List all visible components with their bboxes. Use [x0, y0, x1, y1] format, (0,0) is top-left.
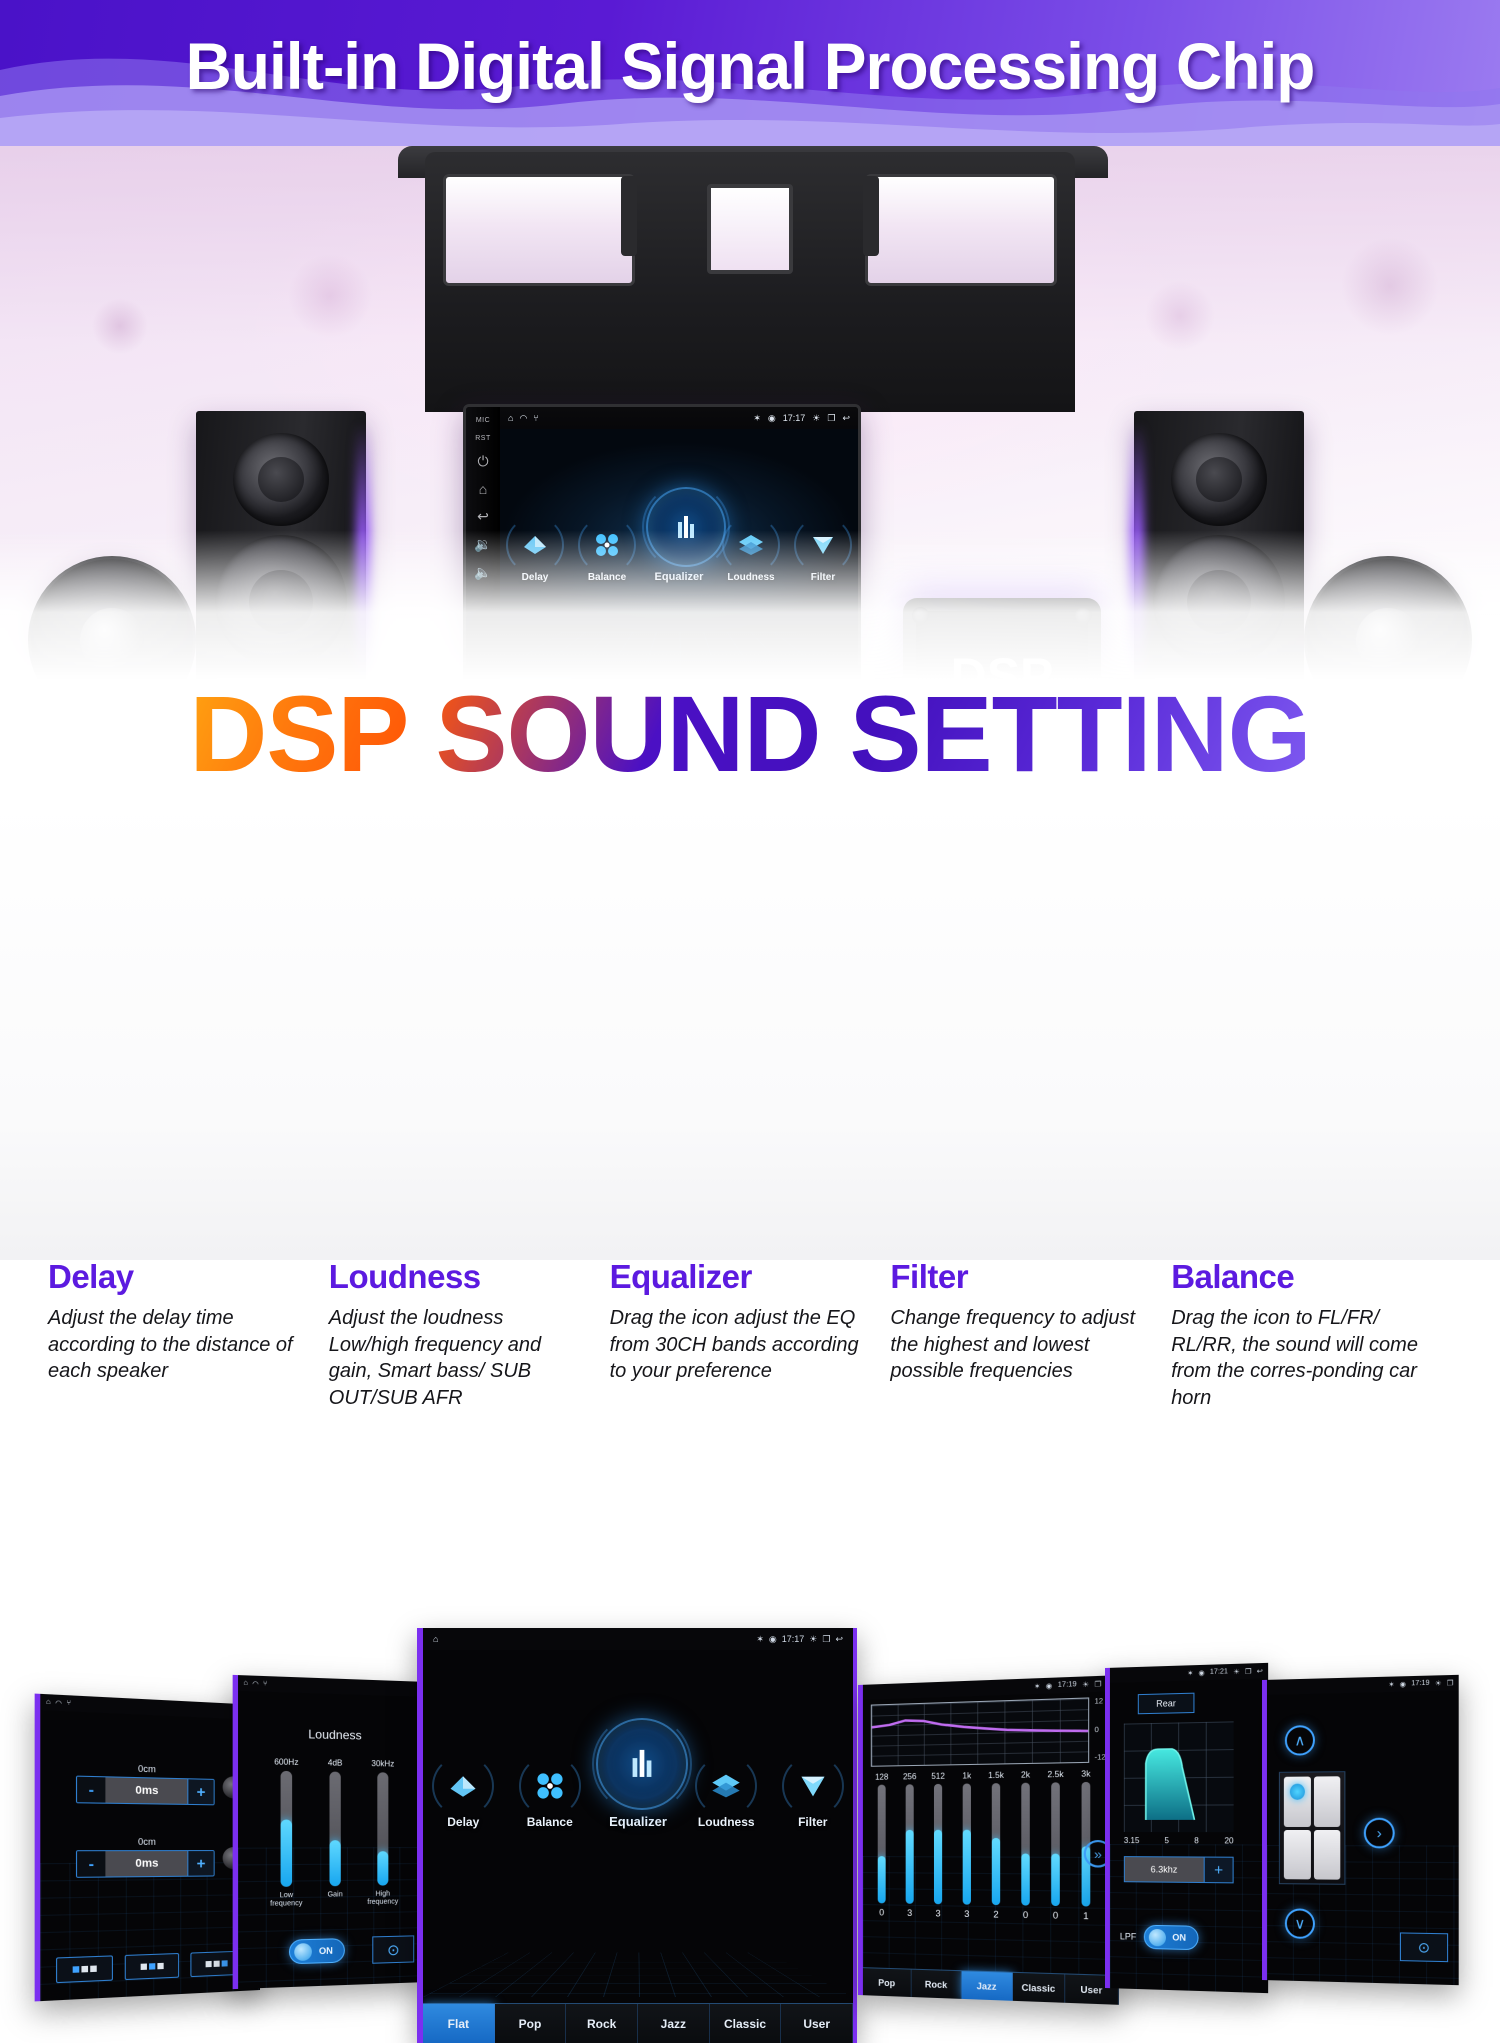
eq-band[interactable]: 256 3 [899, 1772, 921, 1918]
toggle-label: ON [312, 1945, 340, 1956]
filter-channel-tab-rear[interactable]: Rear [1138, 1693, 1195, 1715]
caption-balance: Balance Drag the icon to FL/FR/ RL/RR, t… [1171, 1258, 1452, 1432]
loudness-toggle[interactable]: ON [289, 1938, 345, 1964]
air-vent-left [443, 174, 635, 286]
speaker-preset-1[interactable] [56, 1955, 113, 1983]
equalizer-icon [596, 1718, 688, 1810]
preset-tab-bar-main: Flat Pop Rock Jazz Classic User [423, 2003, 853, 2043]
caption-heading: Equalizer [610, 1258, 867, 1296]
eq-band-value: 0 [1014, 1910, 1037, 1921]
caption-body: Change frequency to adjust the highest a… [890, 1305, 1147, 1385]
bluetooth-icon: ✶ [1034, 1682, 1040, 1691]
back-icon[interactable]: ↩ [477, 508, 489, 525]
slider-track[interactable] [377, 1772, 388, 1885]
caption-body: Drag the icon to FL/FR/ RL/RR, the sound… [1171, 1305, 1428, 1411]
slider-track[interactable] [934, 1784, 942, 1904]
menu-label-filter: Filter [773, 1815, 854, 1829]
filter-plus-button[interactable]: + [1204, 1858, 1233, 1883]
preset-tab-user[interactable]: User [781, 2004, 853, 2043]
slider-track[interactable] [992, 1783, 1000, 1905]
caption-body: Drag the icon adjust the EQ from 30CH ba… [610, 1305, 867, 1385]
slider-track[interactable] [281, 1771, 293, 1887]
back-icon[interactable]: ↩ [835, 1634, 843, 1645]
menu-label-equalizer: Equalizer [596, 1814, 680, 1829]
eq-band-value: 3 [899, 1908, 921, 1919]
clock-label: 17:17 [783, 413, 806, 423]
filter-scale-3: 8 [1194, 1836, 1199, 1845]
preset-tab-pop[interactable]: Pop [863, 1968, 912, 1997]
eq-band[interactable]: 1k 3 [955, 1771, 978, 1919]
menu-label-delay: Delay [423, 1815, 504, 1829]
equalizer-response-graph: 12 0 -12 [871, 1697, 1089, 1766]
delay-stepper-2[interactable]: - 0ms + [76, 1850, 215, 1878]
eq-band[interactable]: 1.5k 2 [984, 1771, 1007, 1920]
brightness-icon[interactable]: ☀ [809, 1634, 817, 1645]
eq-band-frequency: 256 [899, 1772, 921, 1781]
delay-value-1: 0ms [105, 1777, 187, 1804]
vent-slot-left [621, 176, 637, 256]
filter-lpf-row: LPF ON [1120, 1924, 1198, 1950]
high-frequency-value: 30kHz [362, 1759, 404, 1769]
eq-band[interactable]: 2k 0 [1014, 1770, 1037, 1920]
screen-balance[interactable]: ✶ ◉ 17:19 ☀ ❐ ∧ › ∨ ⊙ [1262, 1675, 1459, 1985]
settings-gear-icon[interactable]: ⊙ [1400, 1932, 1448, 1962]
status-bar-delay: ⌂ ◠ ⑂ [40, 1694, 260, 1720]
caption-loudness: Loudness Adjust the loudness Low/high fr… [329, 1258, 610, 1432]
preset-tab-classic[interactable]: Classic [710, 2004, 782, 2043]
slider-track[interactable] [963, 1783, 971, 1904]
home-icon[interactable]: ⌂ [433, 1634, 438, 1644]
delay-minus-button-2[interactable]: - [77, 1851, 105, 1877]
filter-response-graph [1124, 1721, 1234, 1832]
bluetooth-icon: ✶ [753, 413, 761, 424]
car-seat-diagram[interactable] [1279, 1771, 1346, 1885]
high-frequency-label: High frequency [362, 1890, 404, 1907]
eq-band-frequency: 1.5k [984, 1771, 1007, 1781]
loudness-slider-low-frequency[interactable]: 600Hz Low frequency [264, 1757, 308, 1909]
slider-track[interactable] [878, 1785, 886, 1904]
screenshot-strip: ⌂ ◠ ⑂ 0cm - 0ms + 0cm - 0ms + [0, 800, 1500, 1260]
recent-apps-icon[interactable]: ❐ [822, 1634, 830, 1645]
toggle-knob [294, 1943, 312, 1961]
caption-equalizer: Equalizer Drag the icon adjust the EQ fr… [610, 1258, 891, 1432]
status-bar-right: ✶ ◉ 17:19 ☀ ❐ ↩ [1034, 1679, 1113, 1690]
status-bar: ⌂ ◠ ⑂ ✶ ◉ 17:17 ☀ ❐ ↩ [500, 407, 858, 429]
dsp-menu-main: Delay Balance Equalizer Loudness [423, 1718, 853, 1829]
banner-title: Built-in Digital Signal Processing Chip [23, 28, 1478, 104]
loudness-title: Loudness [238, 1725, 428, 1744]
location-icon: ◉ [1198, 1668, 1204, 1676]
car-dashboard [425, 152, 1075, 412]
caption-heading: Balance [1171, 1258, 1428, 1296]
menu-item-delay[interactable]: Delay [423, 1761, 504, 1829]
eq-band-value: 3 [955, 1909, 978, 1920]
delay-plus-button-1[interactable]: + [187, 1779, 213, 1804]
location-icon: ◉ [1400, 1680, 1406, 1688]
seat-rear-right[interactable] [1313, 1829, 1340, 1879]
caption-delay: Delay Adjust the delay time according to… [48, 1258, 329, 1432]
eq-band[interactable]: 2.5k 0 [1044, 1770, 1068, 1921]
eq-band-value: 0 [1044, 1910, 1068, 1921]
screen-equalizer[interactable]: ✶ ◉ 17:19 ☀ ❐ ↩ 12 0 -12 128 0 [858, 1675, 1119, 2005]
hero-section: MIC RST ⏻ ⌂ ↩ 🔉 🔈 ⌂ ◠ ⑂ ✶ ◉ 17:17 ☀ ❐ ↩ [0, 146, 1500, 680]
status-bar-equalizer: ✶ ◉ 17:19 ☀ ❐ ↩ [863, 1675, 1119, 1700]
tweeter-left [233, 433, 328, 526]
mic-label: MIC [476, 417, 490, 424]
filter-scale-4: 20 [1224, 1836, 1233, 1845]
status-bar-loudness: ⌂ ◠ ⑂ [238, 1675, 428, 1697]
page-banner: Built-in Digital Signal Processing Chip [0, 0, 1500, 146]
loudness-slider-gain[interactable]: 4dB Gain [313, 1758, 356, 1908]
settings-gear-icon[interactable]: ⊙ [372, 1935, 414, 1963]
clock-label: 17:19 [1411, 1680, 1429, 1688]
slider-track[interactable] [1051, 1782, 1060, 1906]
balance-down-arrow-icon[interactable]: ∨ [1285, 1908, 1315, 1939]
eq-band[interactable]: 512 3 [927, 1772, 949, 1919]
screen-dsp-main[interactable]: ⌂ ✶ ◉ 17:17 ☀ ❐ ↩ Delay Bala [417, 1628, 857, 2043]
status-bar-balance: ✶ ◉ 17:19 ☀ ❐ [1267, 1675, 1459, 1695]
preset-tab-rock[interactable]: Rock [566, 2004, 638, 2043]
bluetooth-icon: ✶ [756, 1634, 764, 1645]
usb-icon: ⑂ [263, 1680, 267, 1687]
home-icon[interactable]: ⌂ [243, 1679, 248, 1686]
loudness-icon [701, 1761, 751, 1811]
seat-front-left[interactable] [1284, 1777, 1311, 1827]
status-bar-right: ✶ ◉ 17:17 ☀ ❐ ↩ [756, 1634, 843, 1645]
eq-band-frequency: 1k [955, 1771, 978, 1781]
preset-tab-flat[interactable]: Flat [423, 2004, 495, 2043]
delay-row-1: 0cm - 0ms + [76, 1762, 215, 1806]
clock-label: 17:17 [782, 1634, 805, 1644]
wifi-icon: ◠ [252, 1679, 259, 1688]
low-frequency-label: Low frequency [264, 1892, 308, 1909]
delay-stepper-1[interactable]: - 0ms + [76, 1776, 215, 1806]
brightness-icon[interactable]: ☀ [812, 413, 820, 424]
gain-value: 4dB [313, 1758, 356, 1768]
delay-distance-1: 0cm [76, 1762, 215, 1776]
power-icon[interactable]: ⏻ [477, 453, 488, 470]
menu-label-balance: Balance [510, 1815, 591, 1829]
slider-track[interactable] [906, 1784, 914, 1904]
recent-apps-icon[interactable]: ❐ [1095, 1680, 1102, 1689]
vent-slot-right [863, 176, 879, 256]
caption-body: Adjust the loudness Low/high frequency a… [329, 1305, 586, 1411]
air-vent-right [865, 174, 1057, 286]
location-icon: ◉ [768, 413, 776, 424]
screen-delay[interactable]: ⌂ ◠ ⑂ 0cm - 0ms + 0cm - 0ms + [35, 1694, 260, 2002]
filter-icon [788, 1761, 838, 1811]
eq-band-frequency: 3k [1074, 1769, 1098, 1779]
eq-band-frequency: 2k [1014, 1770, 1037, 1780]
back-icon[interactable]: ↩ [842, 413, 850, 424]
rst-label: RST [475, 435, 491, 442]
wifi-icon: ◠ [519, 413, 527, 424]
menu-item-equalizer[interactable]: Equalizer [596, 1718, 680, 1829]
brightness-icon[interactable]: ☀ [1233, 1667, 1240, 1675]
caption-filter: Filter Change frequency to adjust the hi… [890, 1258, 1171, 1432]
delay-distance-2: 0cm [76, 1836, 215, 1847]
toggle-label: ON [1165, 1932, 1192, 1943]
balance-right-arrow-icon[interactable]: › [1364, 1818, 1395, 1849]
screen-loudness[interactable]: ⌂ ◠ ⑂ Loudness 600Hz Low frequency 4dB G… [233, 1675, 428, 1989]
status-bar-main: ⌂ ✶ ◉ 17:17 ☀ ❐ ↩ [423, 1628, 853, 1650]
recent-apps-icon[interactable]: ❐ [827, 413, 835, 424]
preset-tab-jazz[interactable]: Jazz [638, 2004, 710, 2043]
balance-icon [525, 1761, 575, 1811]
preset-tab-rock[interactable]: Rock [912, 1970, 962, 1999]
eq-band-frequency: 128 [871, 1772, 893, 1781]
loudness-sliders: 600Hz Low frequency 4dB Gain 30kHz High … [238, 1757, 428, 1910]
filter-curve [1124, 1721, 1234, 1832]
caption-body: Adjust the delay time according to the d… [48, 1305, 305, 1385]
bluetooth-icon: ✶ [1388, 1680, 1394, 1688]
low-frequency-value: 600Hz [264, 1757, 308, 1767]
menu-item-balance[interactable]: Balance [510, 1761, 591, 1829]
caption-heading: Delay [48, 1258, 305, 1296]
clock-label: 17:19 [1058, 1681, 1077, 1689]
status-bar-right: ✶ ◉ 17:19 ☀ ❐ [1388, 1679, 1453, 1689]
eq-band-value: 3 [927, 1908, 949, 1919]
floor-reflection [0, 530, 1500, 680]
delay-row-2: 0cm - 0ms + [76, 1836, 215, 1878]
eq-band-value: 1 [1074, 1911, 1098, 1922]
usb-icon: ⑂ [533, 413, 538, 423]
speaker-preset-2[interactable] [125, 1953, 179, 1980]
eq-curve-line [872, 1699, 1088, 1768]
delay-plus-button-2[interactable]: + [187, 1851, 213, 1876]
clock-label: 17:21 [1210, 1668, 1228, 1676]
preset-tab-pop[interactable]: Pop [495, 2004, 567, 2043]
wifi-icon: ◠ [55, 1698, 62, 1707]
preset-tab-classic[interactable]: Classic [1013, 1973, 1065, 2003]
usb-icon: ⑂ [66, 1699, 71, 1707]
feature-captions: Delay Adjust the delay time according to… [0, 1258, 1500, 1432]
home-icon[interactable]: ⌂ [508, 413, 513, 423]
status-bar-right: ✶ ◉ 17:17 ☀ ❐ ↩ [753, 413, 850, 424]
lpf-label: LPF [1120, 1931, 1136, 1941]
filter-scale-2: 5 [1164, 1836, 1169, 1845]
lpf-toggle[interactable]: ON [1143, 1925, 1198, 1950]
home-icon[interactable]: ⌂ [46, 1698, 51, 1706]
delay-value-2: 0ms [105, 1851, 187, 1876]
slider-track[interactable] [329, 1772, 340, 1887]
gain-label: Gain [313, 1891, 356, 1900]
recent-apps-icon[interactable]: ❐ [1447, 1679, 1454, 1687]
menu-item-loudness[interactable]: Loudness [686, 1761, 767, 1829]
eq-band-frequency: 2.5k [1044, 1770, 1068, 1780]
home-icon[interactable]: ⌂ [479, 481, 487, 497]
loudness-slider-high-frequency[interactable]: 30kHz High frequency [362, 1759, 404, 1907]
delay-icon [438, 1761, 488, 1811]
toggle-knob [1148, 1928, 1165, 1946]
seat-rear-left[interactable] [1284, 1829, 1311, 1879]
tweeter-right [1171, 433, 1266, 526]
eq-band-value: 2 [984, 1909, 1007, 1920]
back-icon[interactable]: ↩ [1257, 1667, 1263, 1675]
brightness-icon[interactable]: ☀ [1082, 1680, 1089, 1689]
filter-frequency-scale: 3.15 5 8 20 [1124, 1836, 1234, 1845]
air-vent-center [707, 184, 793, 274]
location-icon: ◉ [1046, 1681, 1053, 1690]
menu-item-filter[interactable]: Filter [773, 1761, 854, 1829]
caption-heading: Loudness [329, 1258, 586, 1296]
filter-frequency-stepper[interactable]: 6.3khz + [1124, 1856, 1234, 1883]
bluetooth-icon: ✶ [1187, 1669, 1193, 1677]
equalizer-band-sliders: 128 0 256 3 512 3 1k 3 1.5k [871, 1769, 1098, 1921]
balance-up-arrow-icon[interactable]: ∧ [1285, 1725, 1315, 1756]
filter-frequency-value: 6.3khz [1125, 1857, 1204, 1882]
location-icon: ◉ [769, 1634, 777, 1645]
eq-band-frequency: 512 [927, 1772, 949, 1782]
slider-track[interactable] [1021, 1783, 1030, 1906]
section-title-dsp-sound-setting: DSP SOUND SETTING [0, 668, 1500, 800]
brightness-icon[interactable]: ☀ [1435, 1679, 1442, 1687]
eq-band[interactable]: 128 0 [871, 1772, 893, 1917]
perspective-grid-decoration [423, 1952, 853, 1997]
seat-front-right[interactable] [1313, 1776, 1340, 1826]
status-bar-right: ✶ ◉ 17:21 ☀ ❐ ↩ [1187, 1667, 1263, 1677]
caption-heading: Filter [890, 1258, 1147, 1296]
preset-tab-jazz[interactable]: Jazz [962, 1971, 1013, 2001]
eq-band-value: 0 [871, 1907, 893, 1917]
delay-minus-button-1[interactable]: - [77, 1777, 105, 1803]
filter-scale-1: 3.15 [1124, 1836, 1140, 1845]
recent-apps-icon[interactable]: ❐ [1245, 1667, 1252, 1675]
menu-label-loudness: Loudness [686, 1815, 767, 1829]
screen-filter[interactable]: ✶ ◉ 17:21 ☀ ❐ ↩ Rear 3.15 5 8 20 6.3khz [1105, 1663, 1268, 1993]
status-bar-filter: ✶ ◉ 17:21 ☀ ❐ ↩ [1110, 1663, 1268, 1683]
